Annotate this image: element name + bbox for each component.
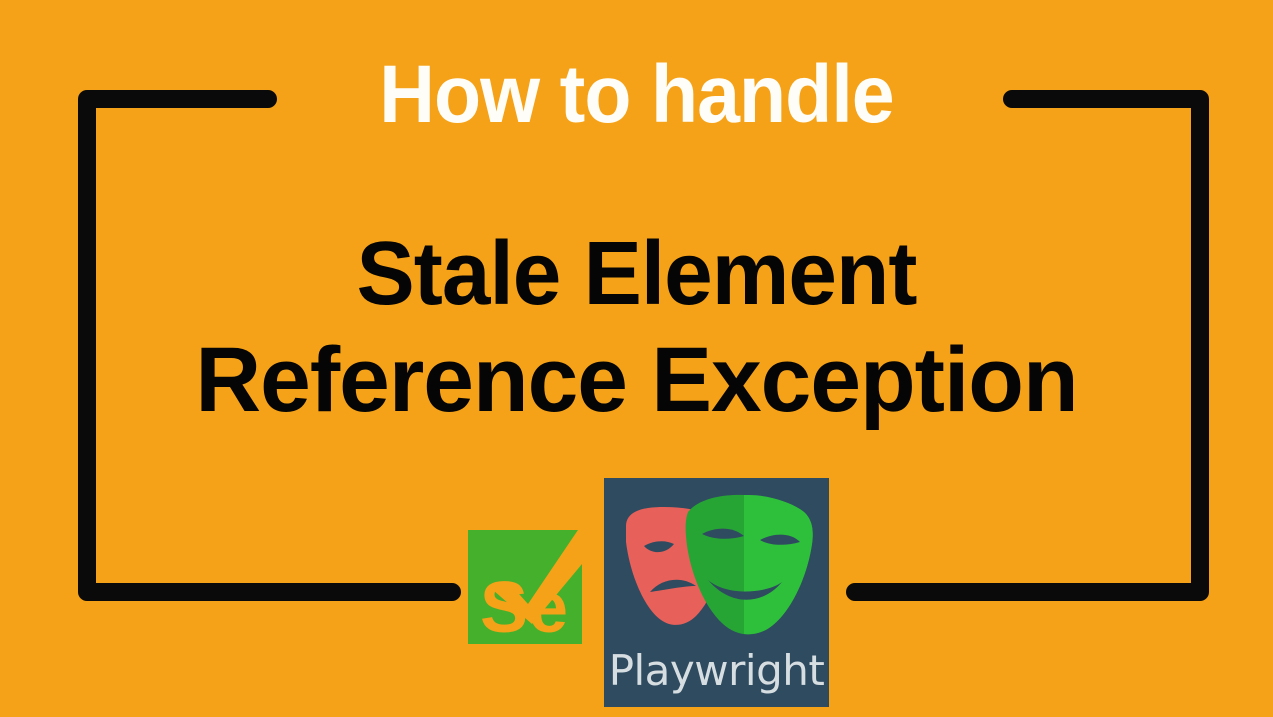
playwright-wordmark: Playwright <box>604 647 829 695</box>
page-title-line-1: Stale Element <box>19 222 1254 326</box>
slide-canvas: How to handle Stale Element Reference Ex… <box>0 0 1273 717</box>
playwright-masks-icon <box>604 482 829 642</box>
page-eyebrow-title: How to handle <box>38 47 1235 143</box>
selenium-logo: Se <box>466 516 586 648</box>
happy-mask-icon <box>686 495 813 634</box>
page-title-line-2: Reference Exception <box>6 328 1266 432</box>
selenium-logo-icon: Se <box>466 516 586 648</box>
selenium-wordmark: Se <box>480 568 568 648</box>
playwright-logo: Playwright <box>604 478 829 707</box>
